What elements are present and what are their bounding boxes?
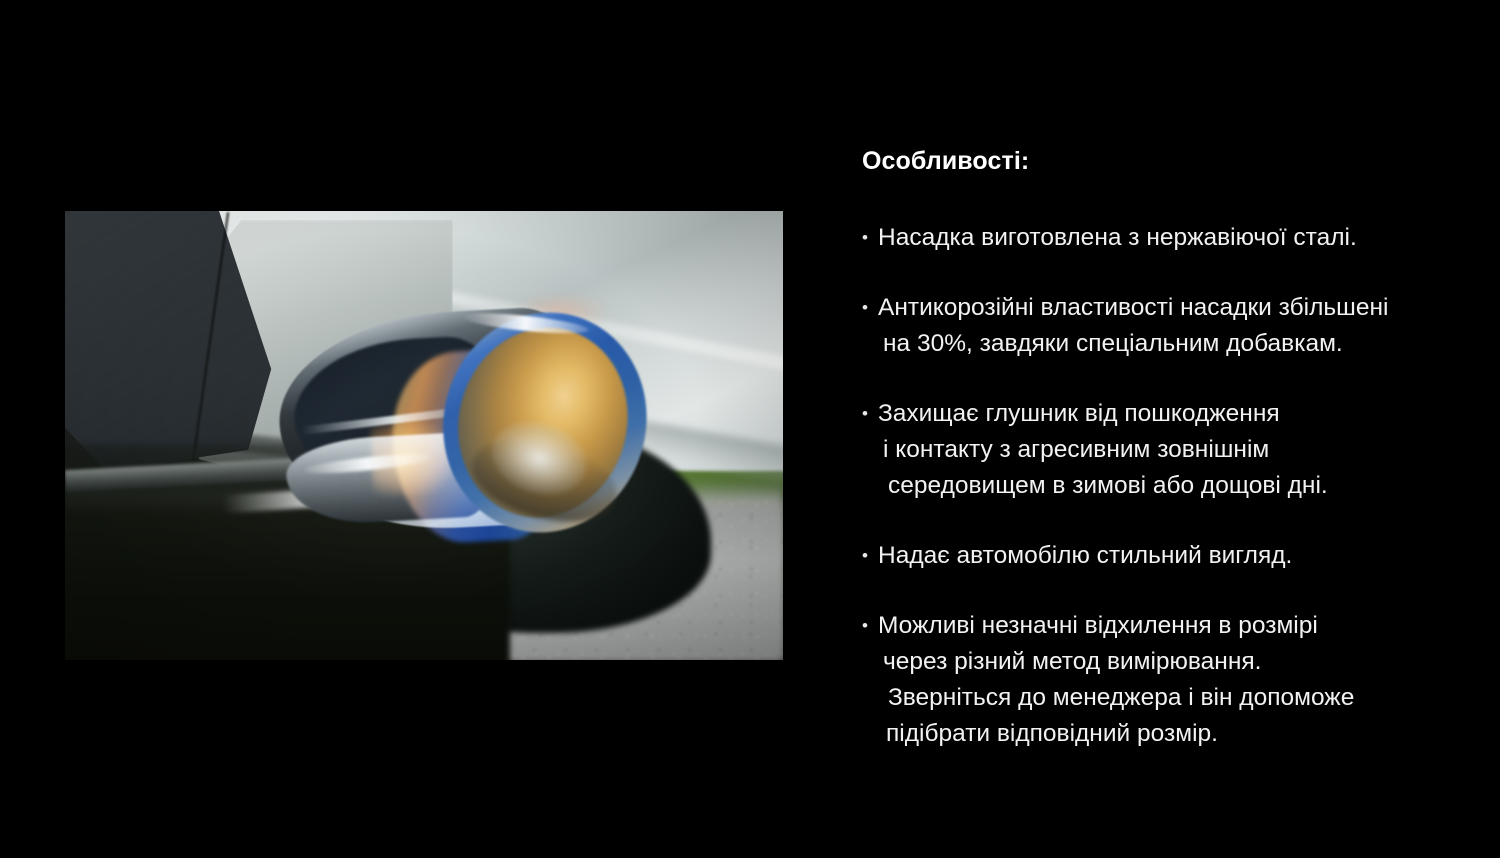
- bullet-icon: •: [862, 220, 878, 256]
- feature-item: • Можливі незначні відхилення в розмірі …: [862, 608, 1462, 752]
- bullet-icon: •: [862, 538, 878, 574]
- feature-text: Захищає глушник від пошкодження і контак…: [878, 396, 1462, 504]
- feature-line: Насадка виготовлена з нержавіючої сталі.: [878, 220, 1462, 256]
- bullet-icon: •: [862, 396, 878, 432]
- feature-line: Можливі незначні відхилення в розмірі: [878, 608, 1462, 644]
- feature-line: через різний метод вимірювання.: [878, 644, 1462, 680]
- feature-line: на 30%, завдяки спеціальним добавкам.: [878, 326, 1462, 362]
- feature-text: Надає автомобілю стильний вигляд.: [878, 538, 1462, 574]
- feature-item: • Антикорозійні властивості насадки збіл…: [862, 290, 1462, 362]
- features-panel: Особливості: • Насадка виготовлена з нер…: [862, 148, 1462, 752]
- car-exhaust-tip-photo: [65, 211, 783, 660]
- feature-line: Антикорозійні властивості насадки збільш…: [878, 290, 1462, 326]
- feature-text: Насадка виготовлена з нержавіючої сталі.: [878, 220, 1462, 256]
- feature-line: Зверніться до менеджера і він допоможе: [878, 680, 1462, 716]
- photo-exhaust-tip: [274, 291, 660, 562]
- feature-item: • Надає автомобілю стильний вигляд.: [862, 538, 1462, 574]
- feature-line: і контакту з агресивним зовнішнім: [878, 432, 1462, 468]
- feature-item: • Насадка виготовлена з нержавіючої стал…: [862, 220, 1462, 256]
- bullet-icon: •: [862, 290, 878, 326]
- feature-item: • Захищає глушник від пошкодження і конт…: [862, 396, 1462, 504]
- features-heading: Особливості:: [862, 148, 1462, 176]
- feature-line: Захищає глушник від пошкодження: [878, 396, 1462, 432]
- feature-line: середовищем в зимові або дощові дні.: [878, 468, 1462, 504]
- feature-text: Антикорозійні властивості насадки збільш…: [878, 290, 1462, 362]
- photo-stage: [65, 211, 783, 660]
- feature-line: Надає автомобілю стильний вигляд.: [878, 538, 1462, 574]
- feature-line: підібрати відповідний розмір.: [878, 716, 1462, 752]
- feature-text: Можливі незначні відхилення в розмірі че…: [878, 608, 1462, 752]
- bullet-icon: •: [862, 608, 878, 644]
- slide-root: Особливості: • Насадка виготовлена з нер…: [0, 0, 1500, 858]
